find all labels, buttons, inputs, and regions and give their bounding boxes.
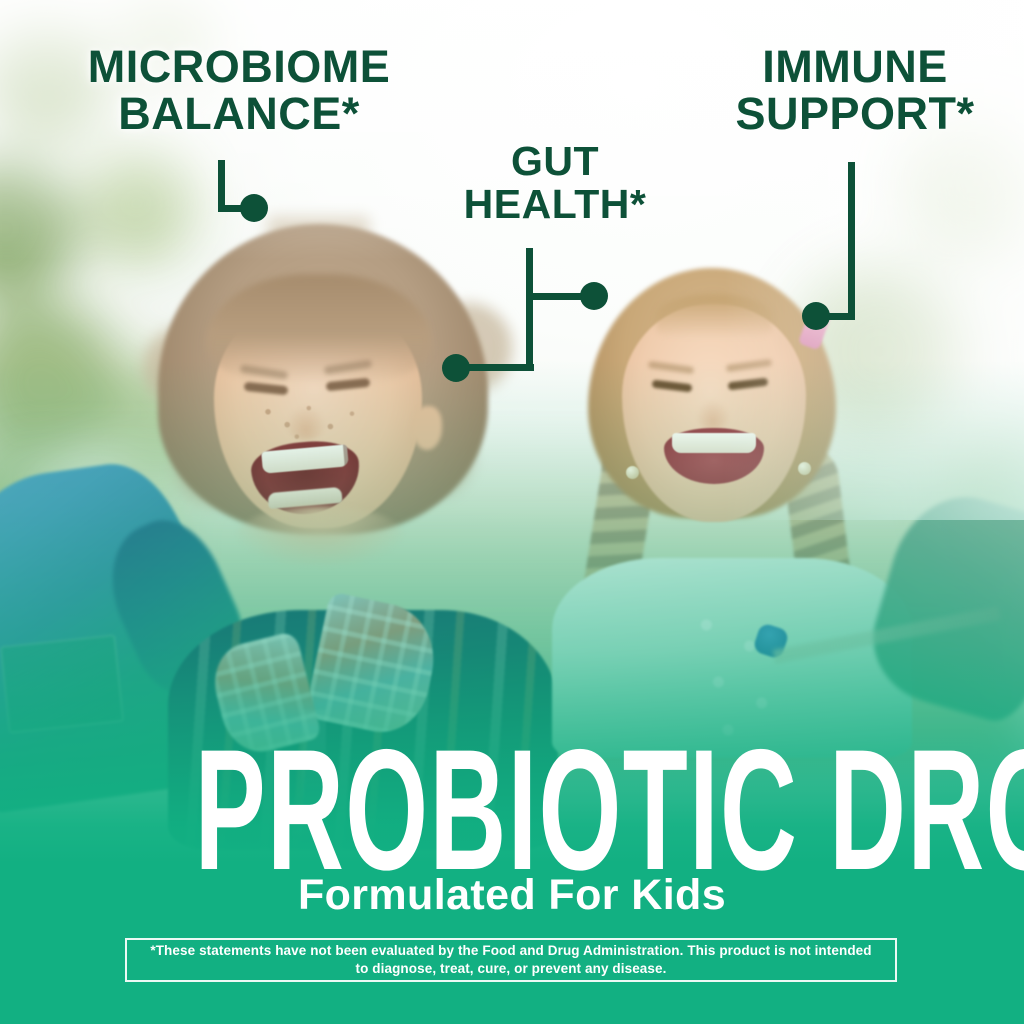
disclaimer-box: *These statements have not been evaluate… <box>125 938 897 982</box>
connector-gut-health <box>440 248 620 378</box>
connector-vertical-segment <box>848 162 855 320</box>
connector-immune-support <box>790 162 870 332</box>
connector-trunk-segment <box>526 248 533 371</box>
product-subheadline: Formulated For Kids <box>0 874 1024 917</box>
connector-endpoint-dot-right <box>580 282 608 310</box>
product-banner: MICROBIOME BALANCE* GUT HEALTH* IMMUNE S… <box>0 0 1024 1024</box>
connector-endpoint-dot <box>802 302 830 330</box>
connector-microbiome <box>218 160 298 230</box>
connector-endpoint-dot-left <box>442 354 470 382</box>
green-gradient-overlay <box>0 360 1024 1024</box>
callout-label-gut-health: GUT HEALTH* <box>420 140 690 225</box>
callout-label-immune-support: IMMUNE SUPPORT* <box>700 44 1010 138</box>
disclaimer-text: *These statements have not been evaluate… <box>143 942 879 978</box>
connector-endpoint-dot <box>240 194 268 222</box>
callout-label-microbiome-balance: MICROBIOME BALANCE* <box>44 44 434 138</box>
